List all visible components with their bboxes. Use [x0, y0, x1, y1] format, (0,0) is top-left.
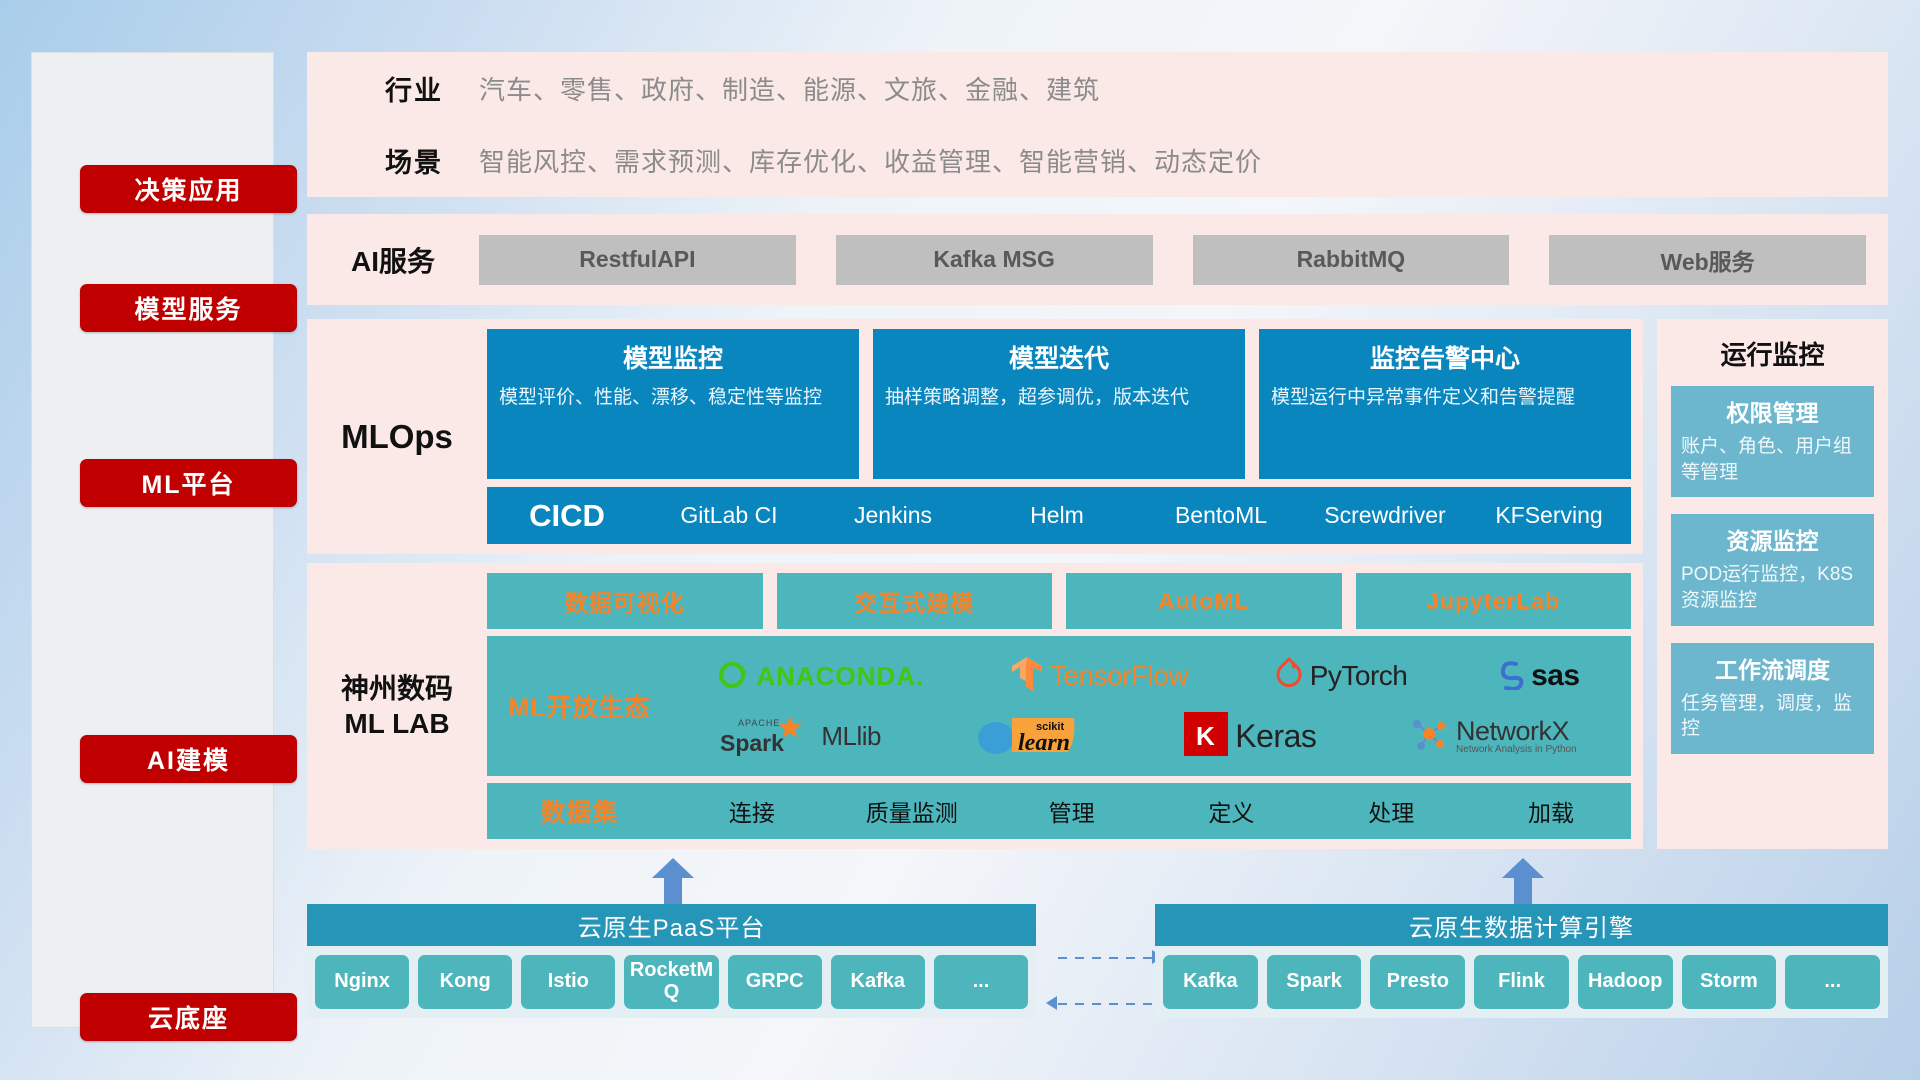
- cicd-item-bentoml[interactable]: BentoML: [1139, 503, 1303, 527]
- decision-applications-panel: 行业 汽车、零售、政府、制造、能源、文旅、金融、建筑 场景 智能风控、需求预测、…: [307, 52, 1888, 197]
- paas-chip-kafka[interactable]: Kafka: [831, 955, 925, 1009]
- ml-lab-panel: 神州数码 ML LAB 数据可视化 交互式建模 AutoML JupyterLa…: [307, 563, 1643, 849]
- card-desc: 账户、角色、用户组等管理: [1681, 434, 1864, 485]
- cicd-bar: CICD GitLab CI Jenkins Helm BentoML Scre…: [487, 487, 1631, 544]
- dataset-item-manage[interactable]: 管理: [992, 794, 1152, 828]
- dataset-item-define[interactable]: 定义: [1151, 794, 1311, 828]
- ml-lab-title-line2: ML LAB: [344, 706, 449, 741]
- cloud-data-engine-title: 云原生数据计算引擎: [1155, 904, 1888, 946]
- industry-values: 汽车、零售、政府、制造、能源、文旅、金融、建筑: [479, 70, 1100, 107]
- ml-lab-title-line1: 神州数码: [341, 671, 453, 706]
- engine-chip-more[interactable]: ...: [1785, 955, 1880, 1009]
- dataset-label: 数据集: [487, 793, 672, 829]
- sas-icon: [1494, 658, 1524, 695]
- ml-ecosystem-logo-row-2: APACHE Spark MLlib scikit: [672, 707, 1623, 765]
- pytorch-icon: [1275, 657, 1303, 696]
- lab-tool-data-visualization[interactable]: 数据可视化: [487, 573, 763, 629]
- industry-row: 行业 汽车、零售、政府、制造、能源、文旅、金融、建筑: [307, 52, 1888, 124]
- dataset-item-quality-monitor[interactable]: 质量监测: [832, 794, 992, 828]
- ml-ecosystem-logo-grid: ANACONDA. TensorFlow PyTorch: [672, 647, 1631, 765]
- ai-services-chip-list: RestfulAPI Kafka MSG RabbitMQ Web服务: [479, 235, 1888, 285]
- service-chip-restfulapi[interactable]: RestfulAPI: [479, 235, 796, 285]
- cicd-item-helm[interactable]: Helm: [975, 503, 1139, 527]
- mlops-content: 模型监控 模型评价、性能、漂移、稳定性等监控 模型迭代 抽样策略调整，超参调优，…: [487, 319, 1643, 554]
- pytorch-label: PyTorch: [1310, 660, 1408, 692]
- service-chip-rabbitmq[interactable]: RabbitMQ: [1193, 235, 1510, 285]
- card-desc: 模型评价、性能、漂移、稳定性等监控: [499, 385, 847, 411]
- cicd-item-screwdriver[interactable]: Screwdriver: [1303, 503, 1467, 527]
- engine-chip-spark[interactable]: Spark: [1267, 955, 1362, 1009]
- spark-icon: APACHE Spark: [718, 712, 814, 761]
- dataset-item-connect[interactable]: 连接: [672, 794, 832, 828]
- engine-chip-storm[interactable]: Storm: [1682, 955, 1777, 1009]
- scenario-values: 智能风控、需求预测、库存优化、收益管理、智能营销、动态定价: [479, 142, 1262, 179]
- sidebar-item-decision-apps[interactable]: 决策应用: [80, 165, 297, 213]
- paas-chip-rocketmq[interactable]: RocketMQ: [624, 955, 718, 1009]
- networkx-subtitle: Network Analysis in Python: [1456, 745, 1577, 755]
- engine-chip-hadoop[interactable]: Hadoop: [1578, 955, 1673, 1009]
- runtime-monitoring-panel: 运行监控 权限管理 账户、角色、用户组等管理 资源监控 POD运行监控，K8S资…: [1657, 319, 1888, 849]
- lab-tool-jupyterlab[interactable]: JupyterLab: [1356, 573, 1632, 629]
- keras-icon: K: [1184, 712, 1228, 761]
- tensorflow-icon: [1011, 656, 1043, 697]
- card-title: 权限管理: [1681, 394, 1864, 428]
- cicd-item-gitlab-ci[interactable]: GitLab CI: [647, 503, 811, 527]
- svg-text:APACHE: APACHE: [738, 718, 780, 728]
- engine-chip-flink[interactable]: Flink: [1474, 955, 1569, 1009]
- card-title: 模型迭代: [885, 339, 1233, 375]
- cloud-paas-title: 云原生PaaS平台: [307, 904, 1036, 946]
- cloud-paas-chip-list: Nginx Kong Istio RocketMQ GRPC Kafka ...: [307, 946, 1036, 1018]
- dashed-link-left: [1058, 1003, 1154, 1005]
- card-desc: 任务管理，调度，监控: [1681, 691, 1864, 742]
- svg-text:K: K: [1196, 721, 1215, 751]
- logo-scikit-learn: scikit learn: [974, 710, 1092, 763]
- card-desc: POD运行监控，K8S资源监控: [1681, 562, 1864, 613]
- ml-lab-content: 数据可视化 交互式建模 AutoML JupyterLab ML开放生态 ANA…: [487, 563, 1643, 849]
- tensorflow-label: TensorFlow: [1050, 660, 1188, 692]
- networkx-icon: [1409, 714, 1449, 759]
- cloud-data-engine-block: 云原生数据计算引擎 Kafka Spark Presto Flink Hadoo…: [1155, 904, 1888, 1018]
- service-chip-kafka-msg[interactable]: Kafka MSG: [836, 235, 1153, 285]
- card-title: 资源监控: [1681, 522, 1864, 556]
- cloud-paas-block: 云原生PaaS平台 Nginx Kong Istio RocketMQ GRPC…: [307, 904, 1036, 1018]
- scenario-label: 场景: [349, 141, 479, 180]
- service-chip-web[interactable]: Web服务: [1549, 235, 1866, 285]
- ai-services-panel: AI服务 RestfulAPI Kafka MSG RabbitMQ Web服务: [307, 214, 1888, 305]
- dashed-link-right: [1058, 957, 1154, 959]
- card-title: 工作流调度: [1681, 651, 1864, 685]
- cicd-item-kfserving[interactable]: KFServing: [1467, 503, 1631, 527]
- engine-chip-kafka[interactable]: Kafka: [1163, 955, 1258, 1009]
- anaconda-label: ANACONDA.: [756, 661, 924, 692]
- mllib-label: MLlib: [821, 721, 881, 752]
- svg-text:Spark: Spark: [720, 730, 784, 756]
- ml-ecosystem-row: ML开放生态 ANACONDA. TensorFlow: [487, 636, 1631, 776]
- mlops-title: MLOps: [307, 319, 487, 554]
- monitor-card-workflow[interactable]: 工作流调度 任务管理，调度，监控: [1671, 643, 1874, 754]
- dataset-row: 数据集 连接 质量监测 管理 定义 处理 加载: [487, 783, 1631, 839]
- paas-chip-more[interactable]: ...: [934, 955, 1028, 1009]
- sidebar-item-ai-modeling[interactable]: AI建模: [80, 735, 297, 783]
- scenario-row: 场景 智能风控、需求预测、库存优化、收益管理、智能营销、动态定价: [307, 124, 1888, 196]
- card-title: 监控告警中心: [1271, 339, 1619, 375]
- logo-keras: K Keras: [1184, 712, 1316, 761]
- logo-sas: sas: [1494, 658, 1580, 695]
- cloud-data-engine-chip-list: Kafka Spark Presto Flink Hadoop Storm ..…: [1155, 946, 1888, 1018]
- engine-chip-presto[interactable]: Presto: [1370, 955, 1465, 1009]
- ai-services-title: AI服务: [307, 240, 479, 280]
- lab-tool-interactive-modeling[interactable]: 交互式建模: [777, 573, 1053, 629]
- card-title: 模型监控: [499, 339, 847, 375]
- mlops-panel: MLOps 模型监控 模型评价、性能、漂移、稳定性等监控 模型迭代 抽样策略调整…: [307, 319, 1643, 554]
- dataset-item-process[interactable]: 处理: [1311, 794, 1471, 828]
- sidebar-item-model-service[interactable]: 模型服务: [80, 284, 297, 332]
- sidebar-item-cloud-foundation[interactable]: 云底座: [80, 993, 297, 1041]
- paas-chip-istio[interactable]: Istio: [521, 955, 615, 1009]
- scikit-learn-icon: scikit learn: [974, 710, 1092, 763]
- logo-anaconda: ANACONDA.: [715, 657, 924, 696]
- card-desc: 模型运行中异常事件定义和告警提醒: [1271, 385, 1619, 411]
- up-arrow-icon-left: [650, 858, 696, 904]
- svg-text:learn: learn: [1018, 730, 1070, 756]
- monitor-card-permission[interactable]: 权限管理 账户、角色、用户组等管理: [1671, 386, 1874, 497]
- anaconda-icon: [715, 657, 749, 696]
- paas-chip-grpc[interactable]: GRPC: [728, 955, 822, 1009]
- runtime-monitoring-title: 运行监控: [1671, 335, 1874, 372]
- networkx-label: NetworkX: [1456, 718, 1577, 745]
- logo-spark-mllib: APACHE Spark MLlib: [718, 712, 881, 761]
- sidebar-item-ml-platform[interactable]: ML平台: [80, 459, 297, 507]
- industry-label: 行业: [349, 69, 479, 108]
- ml-ecosystem-label: ML开放生态: [487, 688, 672, 724]
- ml-lab-tool-list: 数据可视化 交互式建模 AutoML JupyterLab: [487, 573, 1631, 629]
- left-rail: 决策应用 模型服务 ML平台 AI建模 云底座: [31, 52, 274, 1028]
- sas-label: sas: [1531, 659, 1580, 693]
- ml-lab-title: 神州数码 ML LAB: [307, 563, 487, 849]
- ml-ecosystem-logo-row-1: ANACONDA. TensorFlow PyTorch: [672, 647, 1623, 705]
- cicd-item-jenkins[interactable]: Jenkins: [811, 503, 975, 527]
- dashed-arrowhead-left-icon: [1046, 996, 1057, 1010]
- lab-tool-automl[interactable]: AutoML: [1066, 573, 1342, 629]
- paas-chip-nginx[interactable]: Nginx: [315, 955, 409, 1009]
- dataset-item-load[interactable]: 加载: [1471, 794, 1631, 828]
- mlops-card-alert-center[interactable]: 监控告警中心 模型运行中异常事件定义和告警提醒: [1259, 329, 1631, 479]
- cicd-title: CICD: [487, 498, 647, 534]
- mlops-card-model-monitoring[interactable]: 模型监控 模型评价、性能、漂移、稳定性等监控: [487, 329, 859, 479]
- keras-label: Keras: [1235, 718, 1316, 755]
- paas-chip-kong[interactable]: Kong: [418, 955, 512, 1009]
- logo-pytorch: PyTorch: [1275, 657, 1408, 696]
- mlops-card-list: 模型监控 模型评价、性能、漂移、稳定性等监控 模型迭代 抽样策略调整，超参调优，…: [487, 329, 1631, 479]
- up-arrow-icon-right: [1500, 858, 1546, 904]
- card-desc: 抽样策略调整，超参调优，版本迭代: [885, 385, 1233, 411]
- monitor-card-resource[interactable]: 资源监控 POD运行监控，K8S资源监控: [1671, 514, 1874, 625]
- logo-tensorflow: TensorFlow: [1011, 656, 1188, 697]
- mlops-card-model-iteration[interactable]: 模型迭代 抽样策略调整，超参调优，版本迭代: [873, 329, 1245, 479]
- logo-networkx: NetworkX Network Analysis in Python: [1409, 714, 1577, 759]
